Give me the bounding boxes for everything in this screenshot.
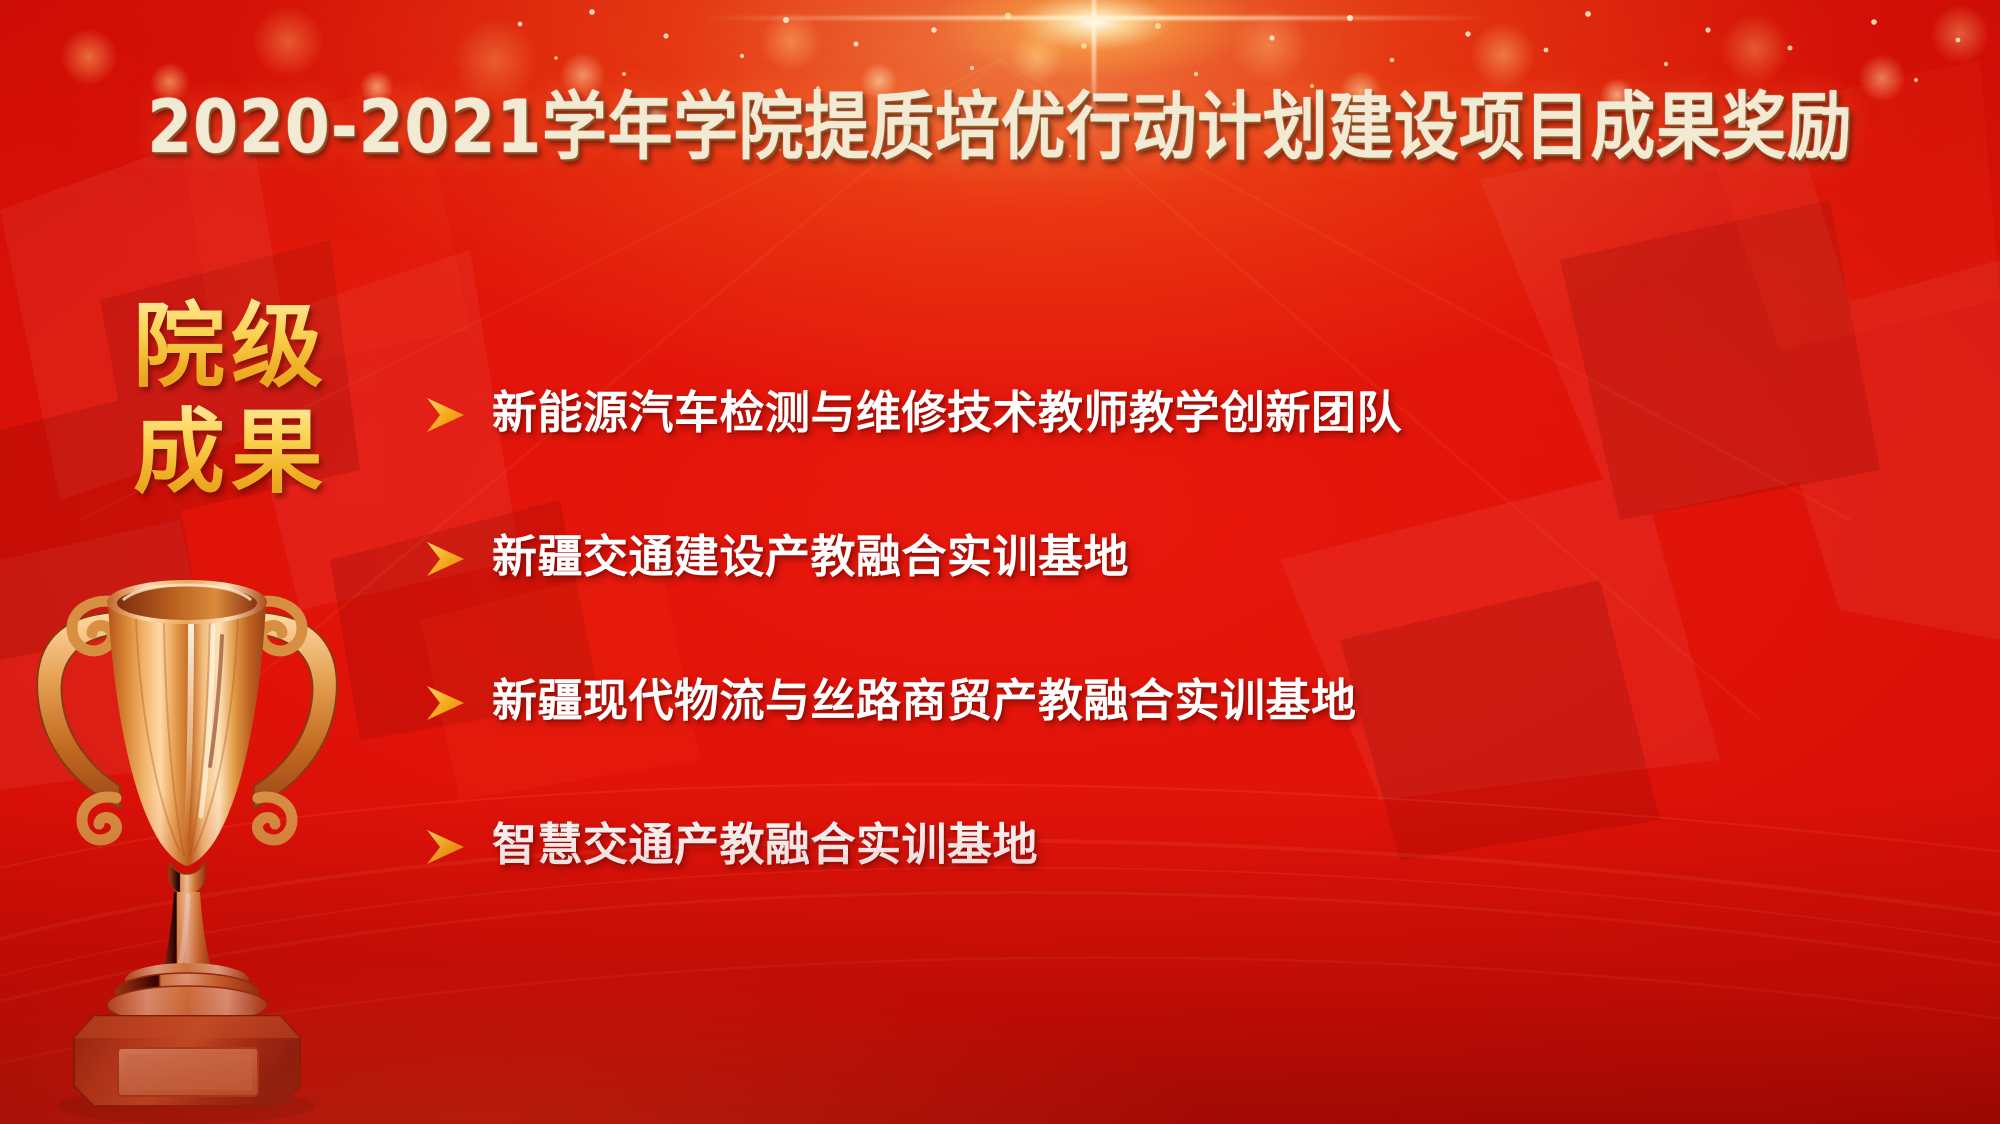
list-item[interactable]: 新疆现代物流与丝路商贸产教融合实训基地 bbox=[424, 664, 1944, 738]
list-item[interactable]: 智慧交通产教融合实训基地 bbox=[424, 808, 1944, 882]
achievement-text: 新疆交通建设产教融合实训基地 bbox=[492, 529, 1129, 585]
list-item[interactable]: 新能源汽车检测与维修技术教师教学创新团队 bbox=[424, 376, 1944, 450]
gold-arrow-bullet-icon bbox=[424, 395, 470, 435]
award-slide: 2020-2021学年学院提质培优行动计划建设项目成果奖励 2020-2021学… bbox=[0, 0, 2000, 1124]
category-label: 院级 成果 bbox=[96, 294, 366, 506]
bokeh-particles bbox=[0, 0, 2000, 200]
flare-ray-vertical bbox=[1092, 0, 1096, 140]
slide-title-container: 2020-2021学年学院提质培优行动计划建设项目成果奖励 bbox=[0, 86, 2000, 156]
slide-title: 2020-2021学年学院提质培优行动计划建设项目成果奖励 bbox=[147, 86, 1852, 169]
gold-arrow-bullet-icon bbox=[424, 539, 470, 579]
category-label-line-1: 院级 bbox=[96, 294, 366, 400]
slide-title-reflection: 2020-2021学年学院提质培优行动计划建设项目成果奖励 bbox=[0, 176, 2000, 246]
achievement-text: 智慧交通产教融合实训基地 bbox=[492, 817, 1038, 873]
achievement-text: 新疆现代物流与丝路商贸产教融合实训基地 bbox=[492, 673, 1357, 729]
gold-arrow-bullet-icon bbox=[424, 683, 470, 723]
flare-ray-horizontal bbox=[700, 16, 1490, 20]
trophy-cup-icon bbox=[8, 540, 338, 1124]
starburst-flare-icon bbox=[930, 0, 1260, 82]
category-label-line-2: 成果 bbox=[96, 400, 366, 506]
achievement-list: 新能源汽车检测与维修技术教师教学创新团队 新疆交通建设产教融合实训基地 bbox=[424, 376, 1944, 952]
achievement-text: 新能源汽车检测与维修技术教师教学创新团队 bbox=[492, 385, 1402, 441]
list-item[interactable]: 新疆交通建设产教融合实训基地 bbox=[424, 520, 1944, 594]
gold-arrow-bullet-icon bbox=[424, 827, 470, 867]
